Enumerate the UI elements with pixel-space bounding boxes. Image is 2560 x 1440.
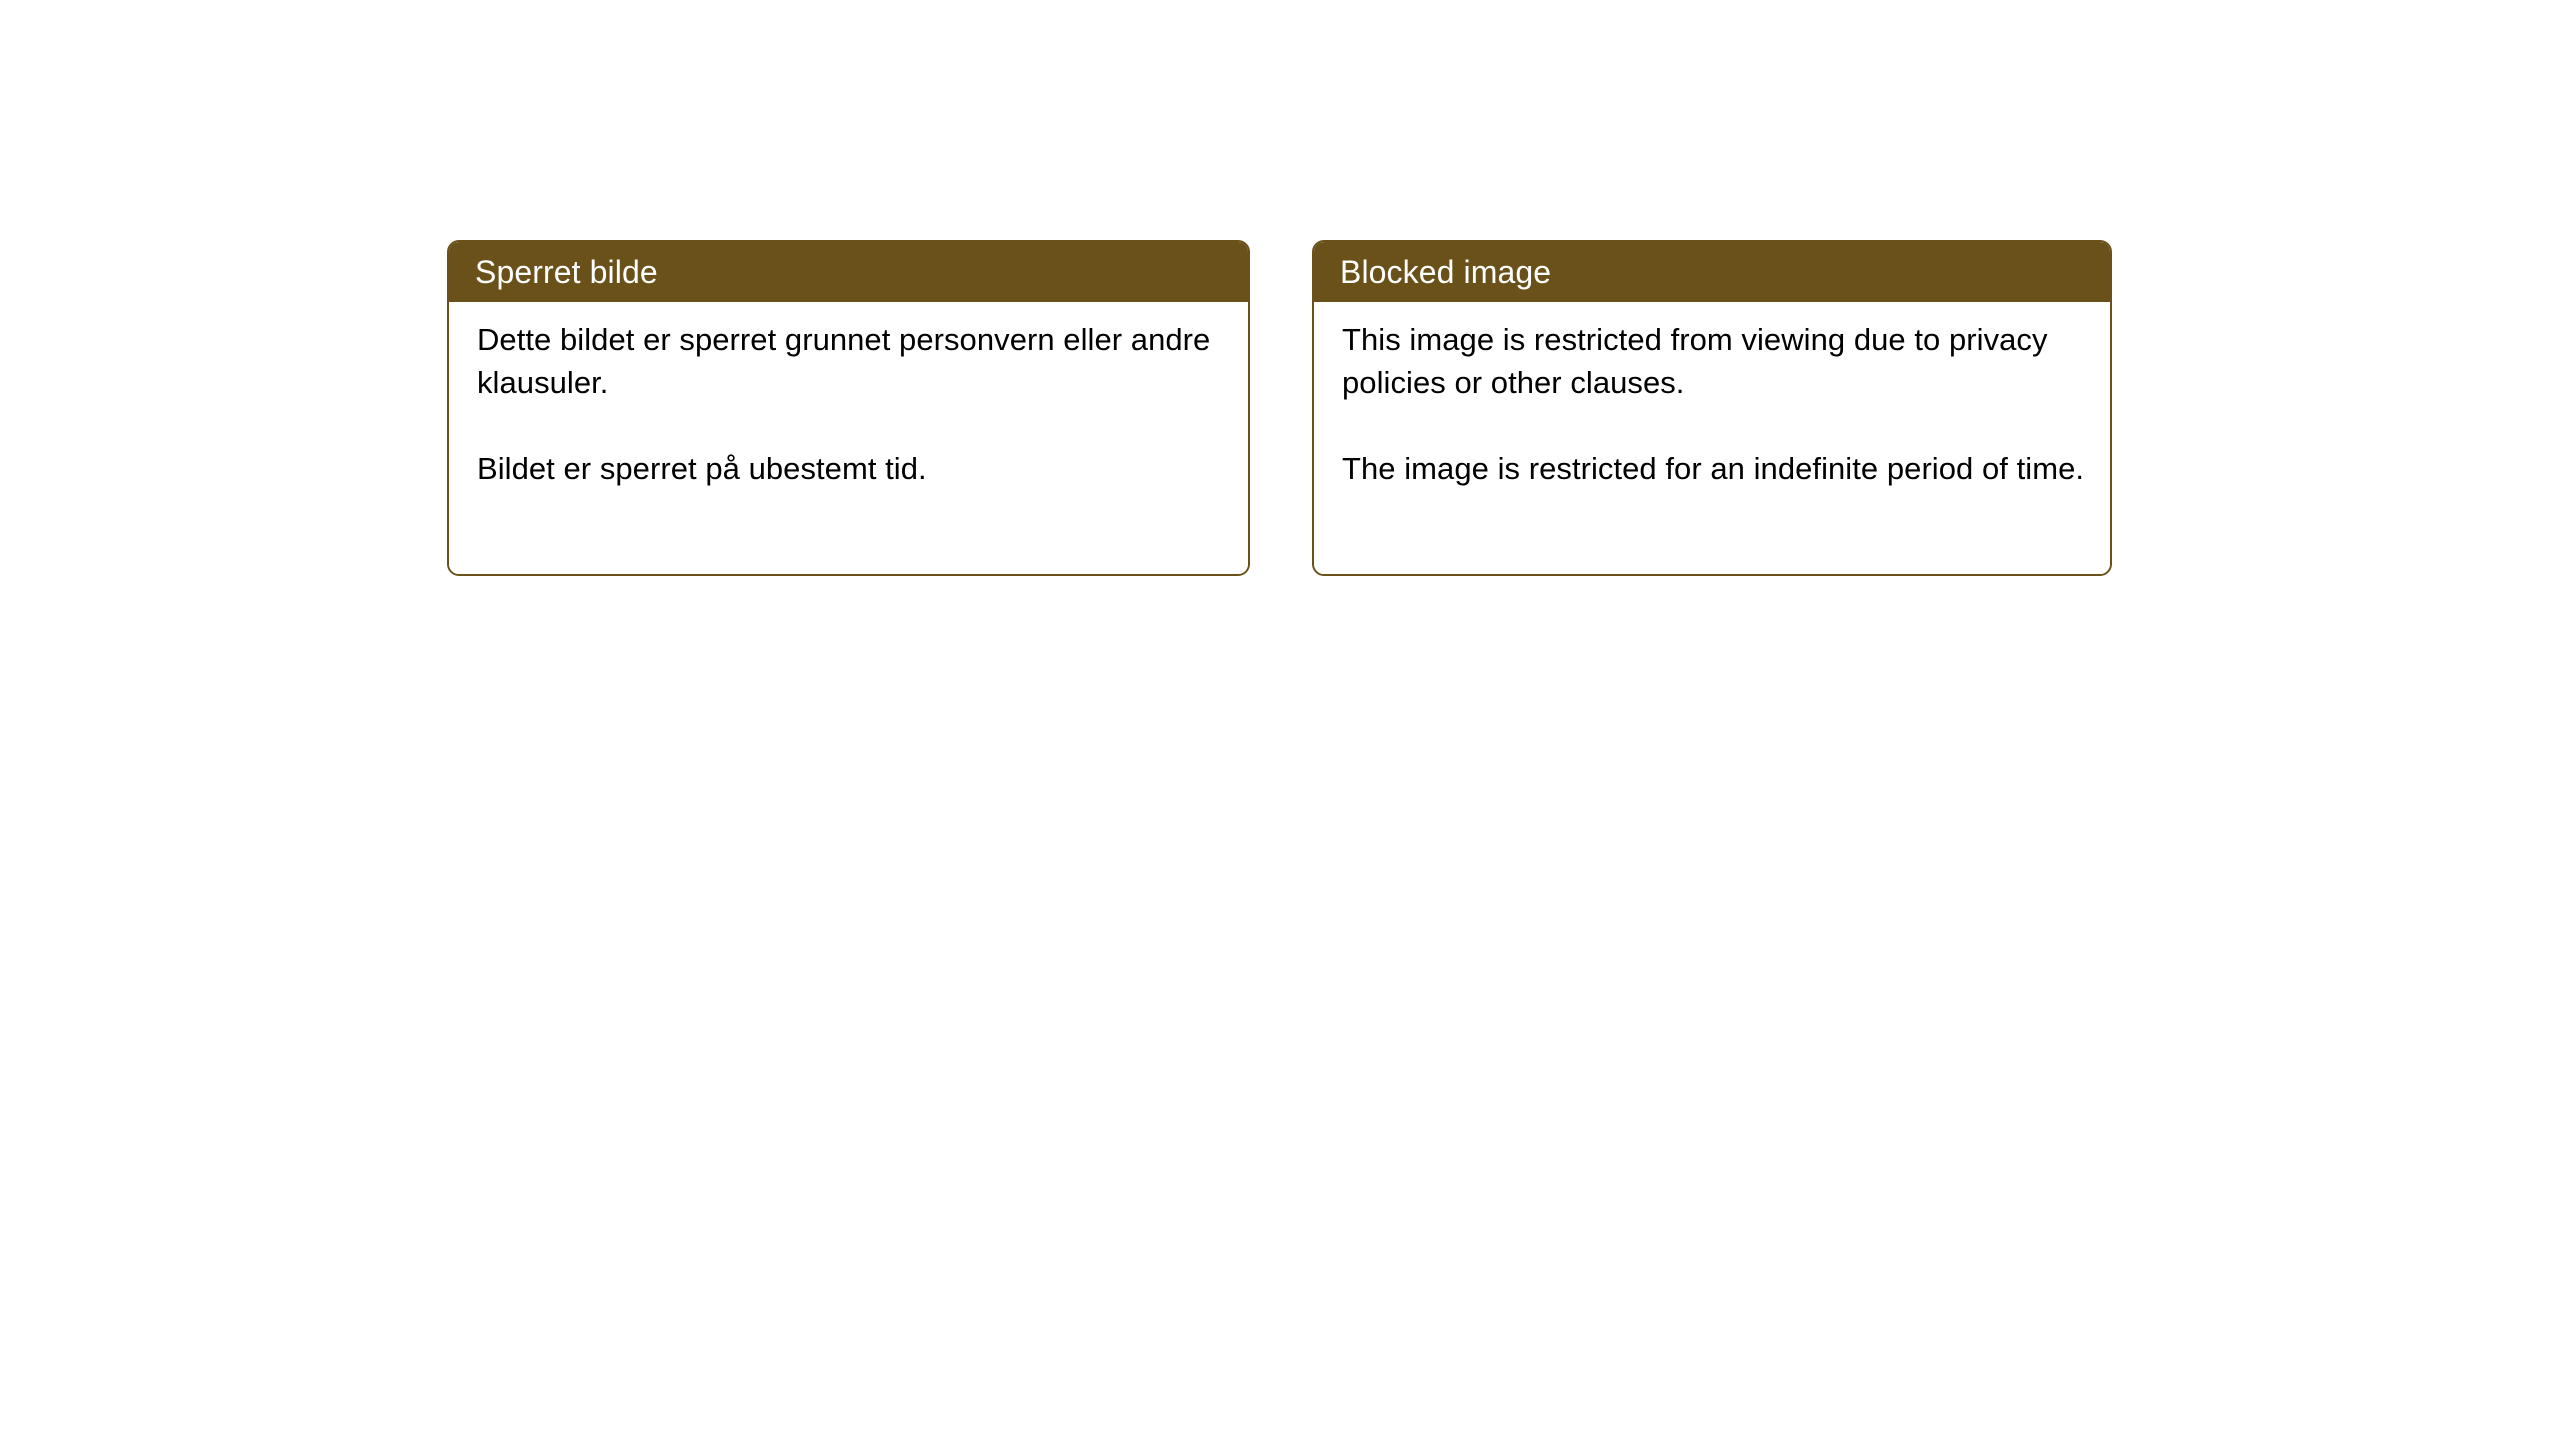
card-paragraph-restriction-duration-norwegian: Bildet er sperret på ubestemt tid. [477, 447, 1226, 490]
card-body-norwegian: Dette bildet er sperret grunnet personve… [449, 302, 1248, 574]
card-body-english: This image is restricted from viewing du… [1314, 302, 2110, 574]
blocked-image-card-norwegian: Sperret bilde Dette bildet er sperret gr… [447, 240, 1250, 576]
card-title-english: Blocked image [1340, 256, 1551, 288]
blocked-image-card-english: Blocked image This image is restricted f… [1312, 240, 2112, 576]
blocked-image-notice-group: Sperret bilde Dette bildet er sperret gr… [447, 240, 2112, 576]
card-header-english: Blocked image [1314, 242, 2110, 302]
card-paragraph-restriction-reason-norwegian: Dette bildet er sperret grunnet personve… [477, 318, 1226, 404]
card-header-norwegian: Sperret bilde [449, 242, 1248, 302]
card-paragraph-restriction-duration-english: The image is restricted for an indefinit… [1342, 447, 2088, 490]
card-title-norwegian: Sperret bilde [475, 256, 658, 288]
card-paragraph-restriction-reason-english: This image is restricted from viewing du… [1342, 318, 2088, 404]
